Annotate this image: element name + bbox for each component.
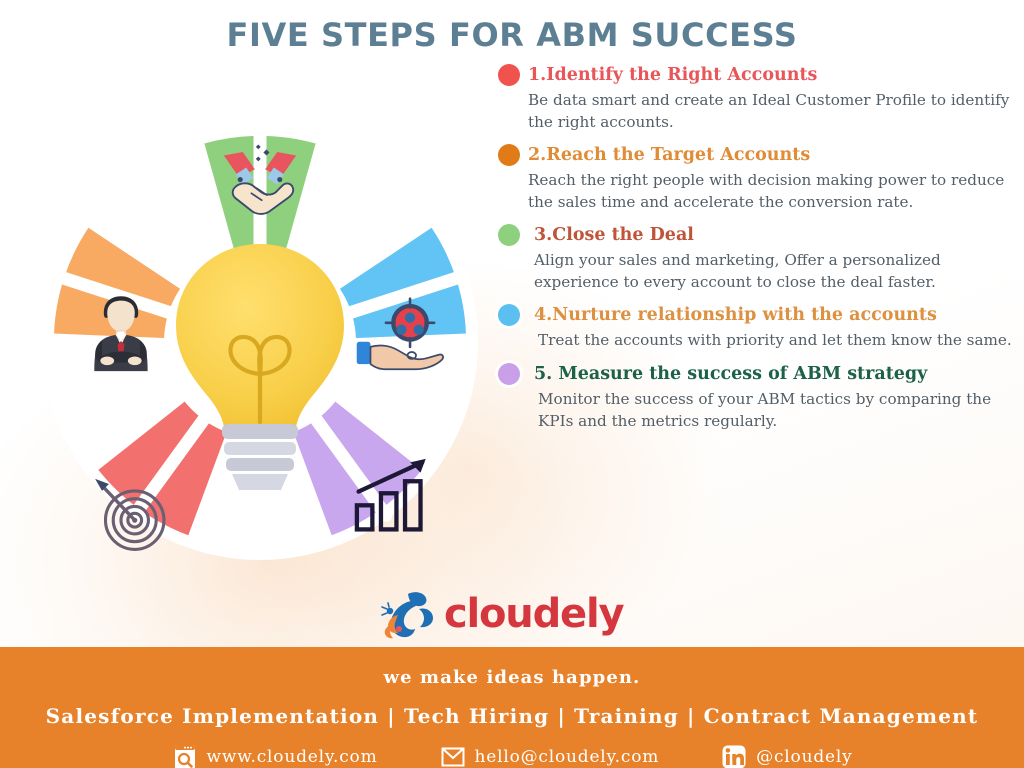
cloudely-logo[interactable]: cloudely (378, 588, 628, 640)
abm-wheel-diagram (30, 112, 490, 572)
contact-email[interactable]: hello@cloudely.com (440, 744, 660, 768)
email-label: hello@cloudely.com (475, 747, 660, 767)
step-body-5: Monitor the success of your ABM tactics … (538, 389, 1014, 432)
step-item-3: 3.Close the Deal Align your sales and ma… (498, 224, 1014, 293)
footer-contacts: www.cloudely.com hello@cloudely.com (0, 728, 1024, 768)
website-label: www.cloudely.com (207, 747, 378, 767)
email-envelope-icon (440, 744, 466, 768)
step-title-2: 2.Reach the Target Accounts (528, 145, 810, 165)
contact-linkedin[interactable]: @cloudely (721, 744, 852, 768)
step-dot-3 (498, 224, 520, 246)
step-body-4: Treat the accounts with priority and let… (538, 330, 1014, 352)
step-item-4: 4.Nurture relationship with the accounts… (498, 304, 1014, 352)
step-dot-4 (498, 304, 520, 326)
step-title-4: 4.Nurture relationship with the accounts (534, 305, 937, 325)
contact-website[interactable]: www.cloudely.com (172, 744, 378, 768)
step-title-3: 3.Close the Deal (534, 225, 694, 245)
step-header-5: 5. Measure the success of ABM strategy (498, 363, 1014, 385)
linkedin-icon (721, 744, 747, 768)
footer-services: Salesforce Implementation | Tech Hiring … (0, 688, 1024, 728)
step-dot-5 (498, 363, 520, 385)
step-header-3: 3.Close the Deal (498, 224, 1014, 246)
footer-banner: we make ideas happen. Salesforce Impleme… (0, 647, 1024, 768)
step-header-1: 1.Identify the Right Accounts (498, 64, 1014, 86)
step-dot-1 (498, 64, 520, 86)
cloudely-wordmark: cloudely (444, 594, 623, 634)
wheel-svg (30, 112, 490, 572)
step-header-2: 2.Reach the Target Accounts (498, 144, 1014, 166)
step-body-1: Be data smart and create an Ideal Custom… (528, 90, 1010, 133)
step-item-5: 5. Measure the success of ABM strategy M… (498, 363, 1014, 432)
step-title-5: 5. Measure the success of ABM strategy (534, 364, 927, 384)
cloudely-figure-mark-icon (378, 589, 440, 639)
step-dot-2 (498, 144, 520, 166)
step-body-3: Align your sales and marketing, Offer a … (534, 250, 1014, 293)
linkedin-label: @cloudely (756, 747, 852, 767)
infographic-poster: FIVE STEPS FOR ABM SUCCESS (0, 0, 1024, 768)
steps-list: 1.Identify the Right Accounts Be data sm… (498, 64, 1014, 443)
step-header-4: 4.Nurture relationship with the accounts (498, 304, 1014, 326)
page-title: FIVE STEPS FOR ABM SUCCESS (0, 16, 1024, 54)
footer-tagline: we make ideas happen. (0, 647, 1024, 688)
step-item-1: 1.Identify the Right Accounts Be data sm… (498, 64, 1014, 133)
step-item-2: 2.Reach the Target Accounts Reach the ri… (498, 144, 1014, 213)
step-body-2: Reach the right people with decision mak… (528, 170, 1010, 213)
step-title-1: 1.Identify the Right Accounts (528, 65, 817, 85)
website-search-icon (172, 744, 198, 768)
